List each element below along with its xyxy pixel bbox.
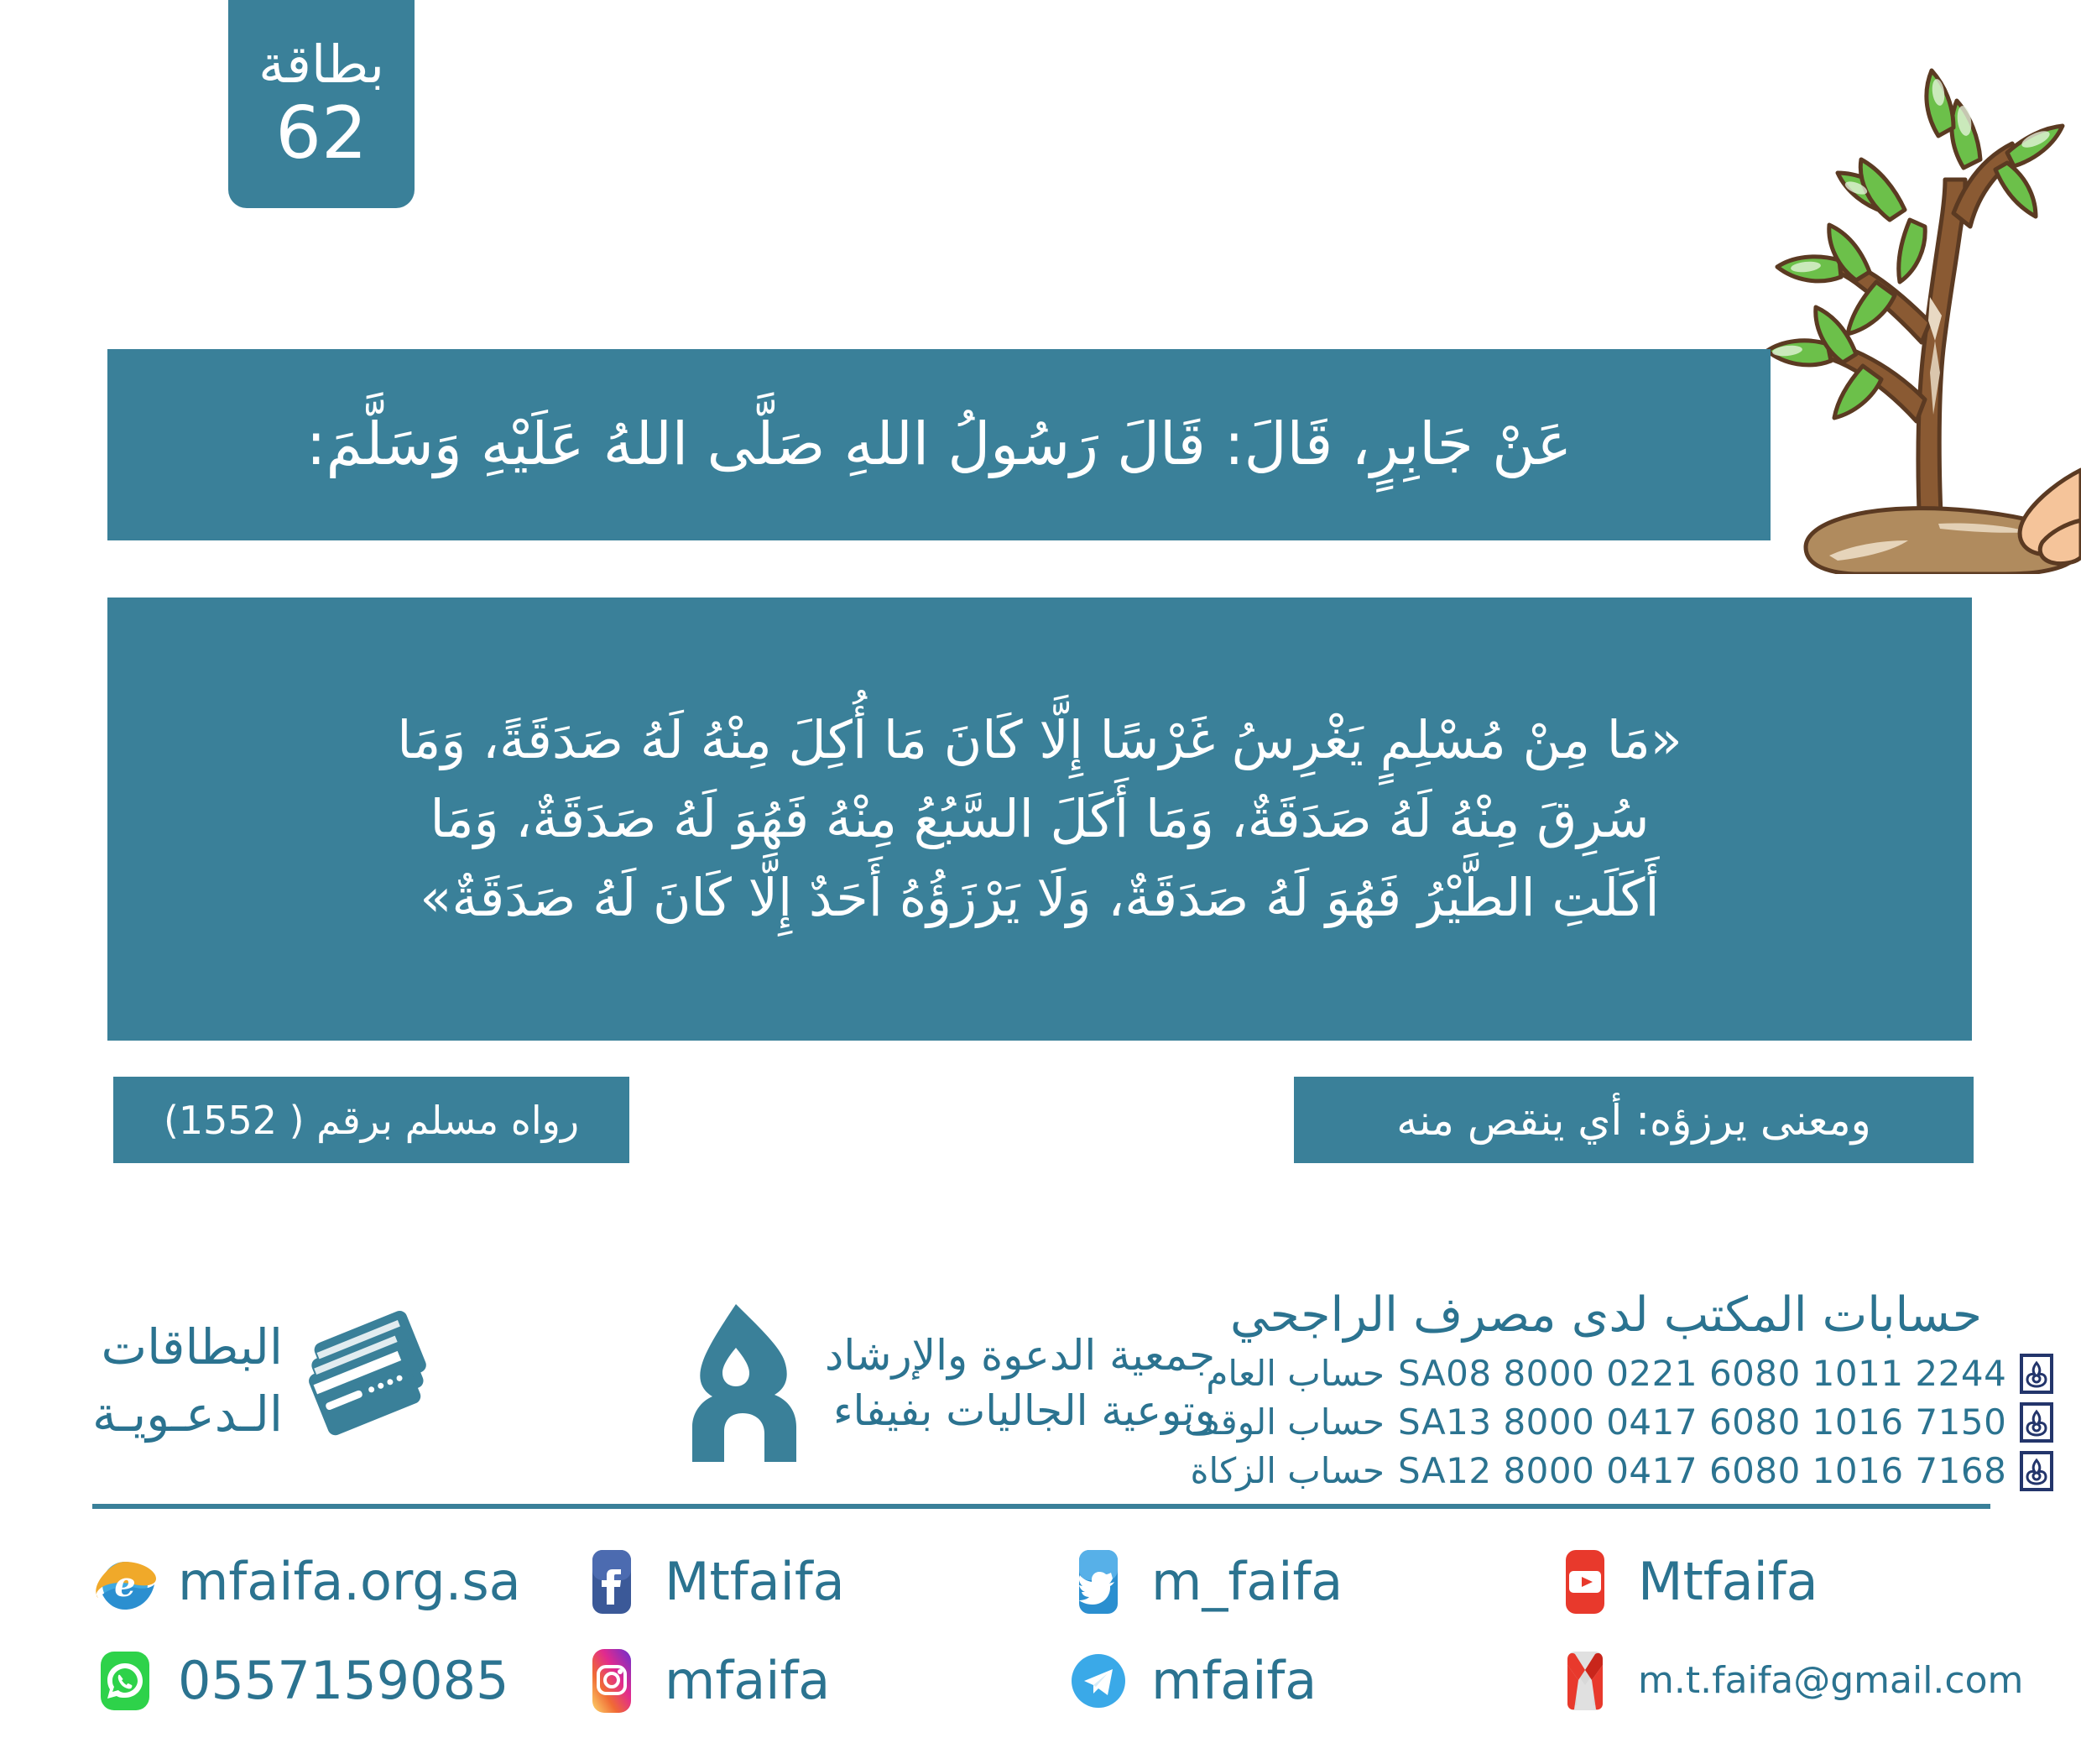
social-label-website: mfaifa.org.sa xyxy=(178,1556,521,1608)
hadith-source-text: رواه مسلم برقم ( 1552) xyxy=(164,1101,579,1140)
bank-accounts-title: حسابات المكتب لدى مصرف الراجحي xyxy=(1227,1291,1982,1341)
footer-divider xyxy=(92,1504,1990,1509)
social-link-telegram[interactable]: mfaifa xyxy=(1064,1647,1551,1715)
bank-accounts-block: حسابات المكتب لدى مصرف الراجحي حساب العا… xyxy=(1227,1291,1982,1495)
al-rajhi-bank-icon xyxy=(2020,1402,2053,1443)
social-link-twitter[interactable]: m_faifa xyxy=(1064,1547,1551,1616)
card-number-badge: بطاقة 62 xyxy=(228,0,415,208)
youtube-icon xyxy=(1551,1547,1619,1616)
hadith-text-band: «مَا مِنْ مُسْلِمٍ يَغْرِسُ غَرْسًا إِلَ… xyxy=(107,598,1972,1041)
organization-name-line-2: وتوعية الجاليات بفيفاء xyxy=(825,1383,1215,1438)
social-label-telegram: mfaifa xyxy=(1151,1655,1317,1707)
social-link-website[interactable]: e mfaifa.org.sa xyxy=(91,1547,577,1616)
hadith-source-band: رواه مسلم برقم ( 1552) xyxy=(113,1077,629,1163)
cards-brand-line-1: البطاقات xyxy=(92,1313,283,1380)
social-label-facebook: Mtfaifa xyxy=(665,1556,845,1608)
badge-number: 62 xyxy=(275,96,367,171)
svg-text:e: e xyxy=(114,1565,135,1605)
bank-account-iban[interactable]: SA12 8000 0417 6080 1016 7168 xyxy=(1398,1453,2006,1489)
social-link-instagram[interactable]: mfaifa xyxy=(577,1647,1064,1715)
social-label-instagram: mfaifa xyxy=(665,1655,830,1707)
telegram-icon xyxy=(1064,1647,1133,1715)
social-label-whatsapp: 0557159085 xyxy=(178,1655,509,1707)
al-rajhi-bank-icon xyxy=(2020,1451,2053,1491)
al-rajhi-bank-icon xyxy=(2020,1354,2053,1394)
social-link-email[interactable]: m.t.faifa@gmail.com xyxy=(1551,1647,2054,1715)
bank-account-label: حساب العام xyxy=(1227,1356,1385,1391)
organization-logo-icon xyxy=(664,1301,808,1465)
hadith-isnad-text: عَنْ جَابِرٍ، قَالَ: قَالَ رَسُولُ اللهِ… xyxy=(281,408,1597,482)
facebook-icon xyxy=(577,1547,646,1616)
badge-word: بطاقة xyxy=(258,39,384,91)
hadith-isnad-band: عَنْ جَابِرٍ، قَالَ: قَالَ رَسُولُ اللهِ… xyxy=(107,349,1771,540)
meaning-note-text: ومعنى يرزؤه: أي ينقص منه xyxy=(1396,1099,1870,1141)
social-link-whatsapp[interactable]: 0557159085 xyxy=(91,1647,577,1715)
hand-planting-sapling-illustration xyxy=(1729,20,2081,574)
bank-account-iban[interactable]: SA13 8000 0417 6080 1016 7150 xyxy=(1398,1405,2006,1440)
social-link-facebook[interactable]: Mtfaifa xyxy=(577,1547,1064,1616)
social-row: e mfaifa.org.sa Mtfaifa xyxy=(0,1532,2081,1631)
organization-block: جمعية الدعوة والإرشاد وتوعية الجاليات بف… xyxy=(664,1301,1215,1465)
bank-account-iban[interactable]: SA08 8000 0221 6080 1011 2244 xyxy=(1398,1356,2006,1391)
hadith-matn-line-3: أَكَلَتِ الطَّيْرُ فَهُوَ لَهُ صَدَقَةٌ،… xyxy=(159,859,1920,937)
hadith-matn-line-1: «مَا مِنْ مُسْلِمٍ يَغْرِسُ غَرْسًا إِلَ… xyxy=(159,701,1920,780)
social-label-youtube: Mtfaifa xyxy=(1638,1556,1818,1608)
social-links: e mfaifa.org.sa Mtfaifa xyxy=(0,1532,2081,1730)
organization-name-line-1: جمعية الدعوة والإرشاد xyxy=(825,1328,1215,1383)
instagram-icon xyxy=(577,1647,646,1715)
organization-name: جمعية الدعوة والإرشاد وتوعية الجاليات بف… xyxy=(825,1328,1215,1438)
bank-account-label: حساب الوقف xyxy=(1227,1405,1385,1440)
cards-brand-block: البطاقات الـدعـويـة xyxy=(92,1306,451,1455)
footer: حسابات المكتب لدى مصرف الراجحي حساب العا… xyxy=(0,1284,2081,1764)
hadith-matn-line-2: سُرِقَ مِنْهُ لَهُ صَدَقَةٌ، وَمَا أَكَل… xyxy=(159,780,1920,859)
social-label-email: m.t.faifa@gmail.com xyxy=(1638,1662,2023,1699)
bank-account-row: حساب العام SA08 8000 0221 6080 1011 2244 xyxy=(1227,1349,1982,1398)
cards-brand-text: البطاقات الـدعـويـة xyxy=(92,1313,283,1448)
dawah-card: بطاقة 62 xyxy=(0,0,2081,1764)
internet-explorer-icon: e xyxy=(91,1547,159,1616)
cards-brand-line-2: الـدعـويـة xyxy=(92,1380,283,1448)
bank-account-label: حساب الزكاة xyxy=(1227,1453,1385,1489)
bank-account-row: حساب الزكاة SA12 8000 0417 6080 1016 716… xyxy=(1227,1447,1982,1495)
social-row: 0557159085 xyxy=(0,1631,2081,1730)
meaning-note-band: ومعنى يرزؤه: أي ينقص منه xyxy=(1294,1077,1974,1163)
whatsapp-icon xyxy=(91,1647,159,1715)
twitter-icon xyxy=(1064,1547,1133,1616)
gmail-icon xyxy=(1551,1647,1619,1715)
bank-account-row: حساب الوقف SA13 8000 0417 6080 1016 7150 xyxy=(1227,1398,1982,1447)
social-label-twitter: m_faifa xyxy=(1151,1556,1343,1608)
stacked-cards-icon xyxy=(301,1306,451,1455)
social-link-youtube[interactable]: Mtfaifa xyxy=(1551,1547,2054,1616)
